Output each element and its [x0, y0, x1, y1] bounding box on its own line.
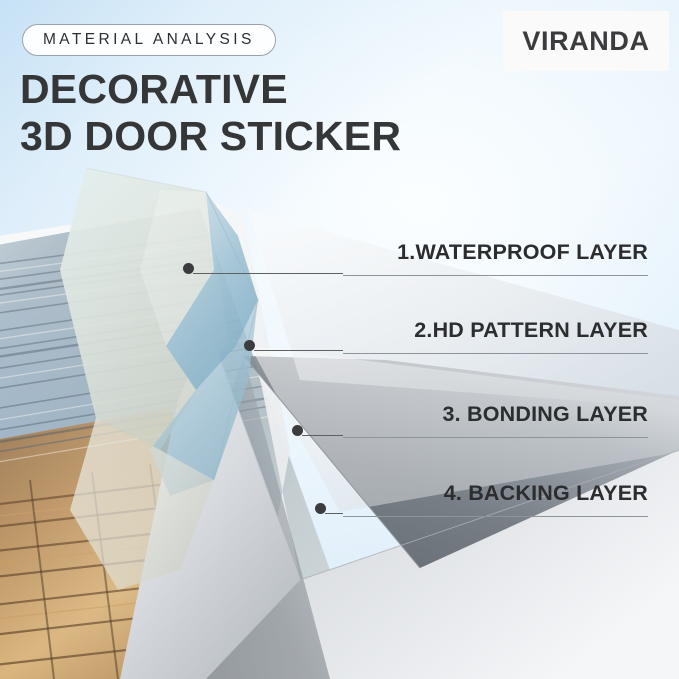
- leader-line-2: [254, 350, 343, 351]
- layer-underline-4: [343, 516, 648, 517]
- poster-canvas: MATERIAL ANALYSIS DECORATIVE 3D DOOR STI…: [0, 0, 679, 679]
- layer-label-2: 2.HD PATTERN LAYER: [414, 318, 648, 348]
- page-title-line-1: DECORATIVE: [20, 66, 450, 113]
- eyebrow-label: MATERIAL ANALYSIS: [43, 31, 255, 49]
- layer-underline-3: [343, 437, 648, 438]
- layer-marker-dot-4[interactable]: [315, 503, 326, 514]
- brand-logo-box: VIRANDA: [503, 11, 669, 71]
- layer-label-3: 3. BONDING LAYER: [443, 402, 649, 432]
- layer-marker-dot-2[interactable]: [244, 340, 255, 351]
- layer-underline-1: [343, 275, 648, 276]
- layer-marker-dot-1[interactable]: [183, 263, 194, 274]
- layer-label-4: 4. BACKING LAYER: [444, 481, 648, 511]
- page-title-line-2: 3D DOOR STICKER: [20, 113, 450, 160]
- leader-line-1: [193, 273, 343, 274]
- page-title: DECORATIVE 3D DOOR STICKER: [20, 66, 450, 160]
- leader-line-4: [325, 513, 343, 514]
- eyebrow-pill: MATERIAL ANALYSIS: [22, 24, 276, 56]
- leader-line-3: [302, 435, 343, 436]
- layer-underline-2: [343, 353, 648, 354]
- brand-name: VIRANDA: [522, 26, 649, 57]
- layer-label-1: 1.WATERPROOF LAYER: [397, 240, 648, 270]
- layer-marker-dot-3[interactable]: [292, 425, 303, 436]
